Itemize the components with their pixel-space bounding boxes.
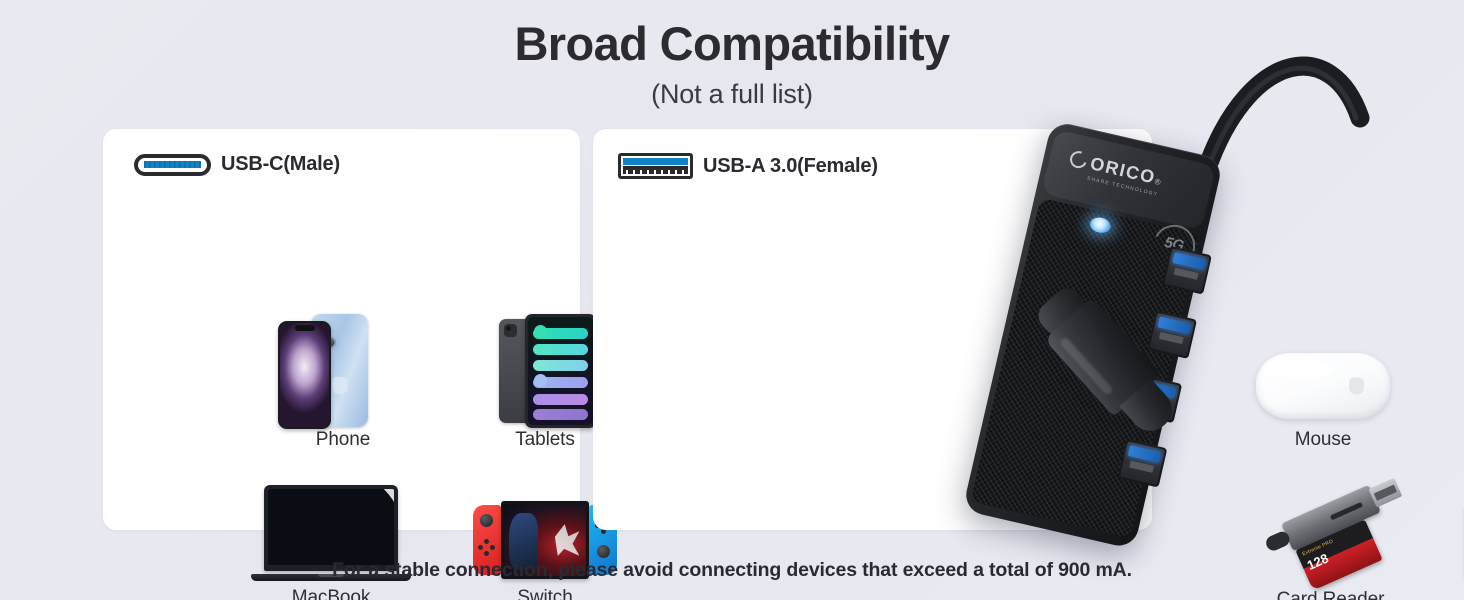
card-header-usb-a: USB-A 3.0(Female) — [618, 153, 878, 179]
phone-front-icon — [278, 321, 331, 429]
tablet-illustration — [481, 311, 609, 429]
device-phone: Phone — [263, 311, 423, 451]
device-label: Switch — [465, 587, 625, 600]
card-header-label: USB-A 3.0(Female) — [703, 155, 878, 178]
device-label: MacBook — [251, 587, 411, 600]
compatibility-card-usb-c: USB-C(Male) Phone — [103, 129, 580, 530]
device-macbook: MacBook — [251, 481, 411, 600]
orico-g-mark-icon — [1067, 149, 1089, 171]
usb-a-connector-icon — [618, 153, 693, 179]
card-header-usb-c: USB-C(Male) — [134, 153, 340, 176]
usb-c-connector-icon — [134, 154, 211, 176]
card-header-label: USB-C(Male) — [221, 153, 340, 176]
device-label: Phone — [263, 429, 423, 451]
infographic-stage: Broad Compatibility (Not a full list) US… — [0, 0, 1464, 600]
product-photo: ORICO® SHARE TECHNOLOGY 5G — [960, 0, 1464, 600]
footer-caption: For a stable connection, please avoid co… — [0, 559, 1464, 582]
phone-illustration — [263, 311, 423, 429]
device-tablets: Tablets — [481, 311, 609, 451]
usb-port[interactable] — [1162, 246, 1212, 294]
device-label: Tablets — [481, 429, 609, 451]
tablet-front-icon — [525, 314, 596, 428]
